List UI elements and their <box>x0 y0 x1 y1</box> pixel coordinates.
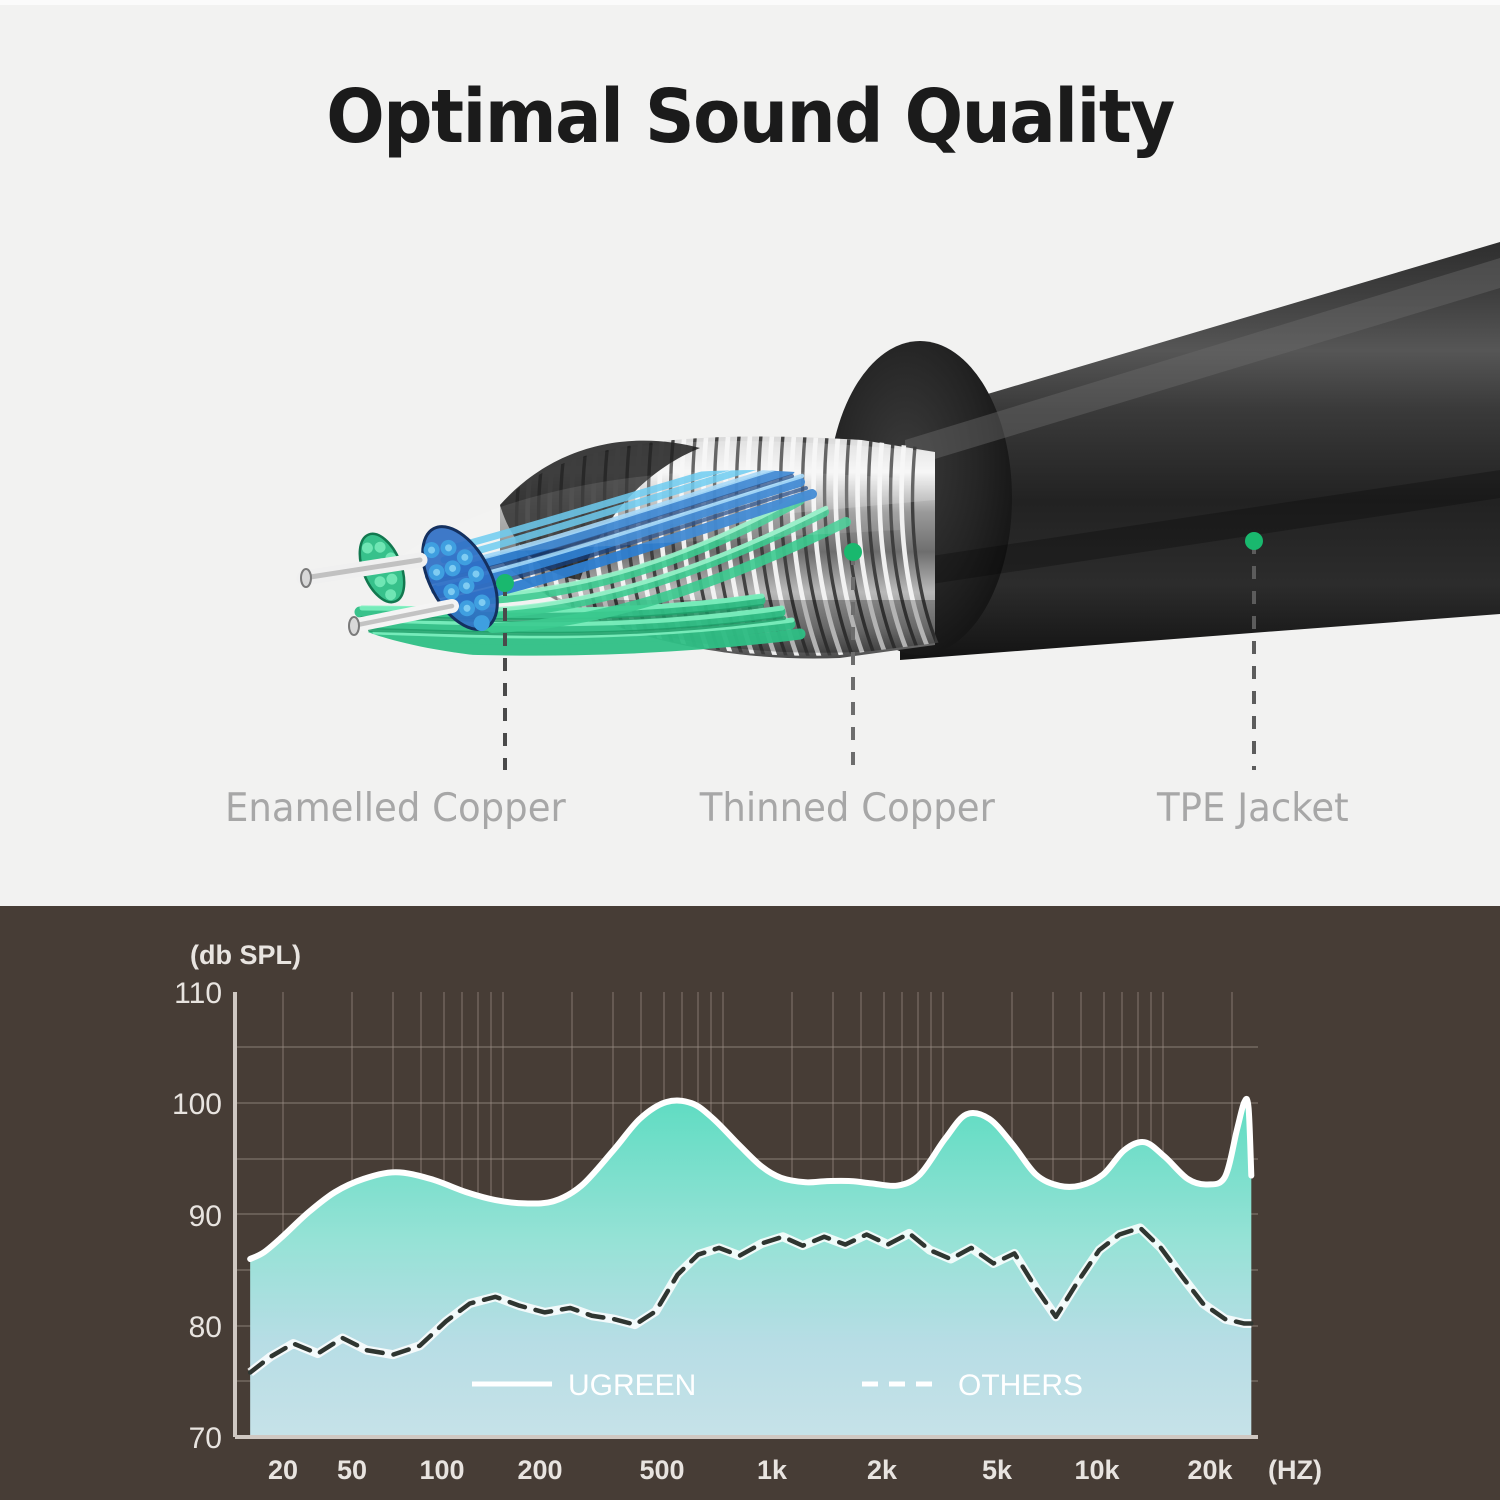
y-tick-70: 70 <box>189 1422 222 1455</box>
x-tick-2k: 2k <box>867 1455 898 1485</box>
x-tick-200: 200 <box>517 1455 562 1485</box>
legend-label-others: OTHERS <box>958 1369 1083 1402</box>
product-illustration-panel: Optimal Sound Quality <box>0 0 1500 906</box>
legend-label-ugreen: UGREEN <box>568 1369 696 1402</box>
marker-enamelled-copper <box>496 574 514 592</box>
frequency-response-chart-panel: (db SPL) 110 100 90 80 70 20 50 100 200 … <box>0 906 1500 1500</box>
y-tick-110: 110 <box>174 977 222 1010</box>
callout-label-enamelled-copper: Enamelled Copper <box>225 786 566 831</box>
x-tick-50: 50 <box>337 1455 367 1485</box>
x-tick-20: 20 <box>268 1455 298 1485</box>
y-axis-title: (db SPL) <box>190 940 301 970</box>
x-tick-100: 100 <box>419 1455 464 1485</box>
marker-thinned-copper <box>844 543 862 561</box>
x-tick-500: 500 <box>639 1455 684 1485</box>
product-feature-graphic: Optimal Sound Quality <box>0 0 1500 1500</box>
x-tick-1k: 1k <box>757 1455 788 1485</box>
cable-illustration <box>0 0 1500 906</box>
x-tick-5k: 5k <box>982 1455 1013 1485</box>
marker-tpe-jacket <box>1245 532 1263 550</box>
callout-label-thinned-copper: Thinned Copper <box>700 786 995 831</box>
x-axis-title: (HZ) <box>1268 1455 1322 1485</box>
y-tick-100: 100 <box>172 1088 222 1121</box>
frequency-response-chart: (db SPL) 110 100 90 80 70 20 50 100 200 … <box>0 906 1500 1500</box>
y-tick-80: 80 <box>189 1311 222 1344</box>
callout-label-tpe-jacket: TPE Jacket <box>1157 786 1349 831</box>
x-tick-10k: 10k <box>1074 1455 1120 1485</box>
series-area-ugreen <box>250 1099 1251 1437</box>
y-tick-90: 90 <box>189 1200 222 1233</box>
chart-series-group <box>250 1099 1251 1437</box>
x-tick-20k: 20k <box>1187 1455 1233 1485</box>
